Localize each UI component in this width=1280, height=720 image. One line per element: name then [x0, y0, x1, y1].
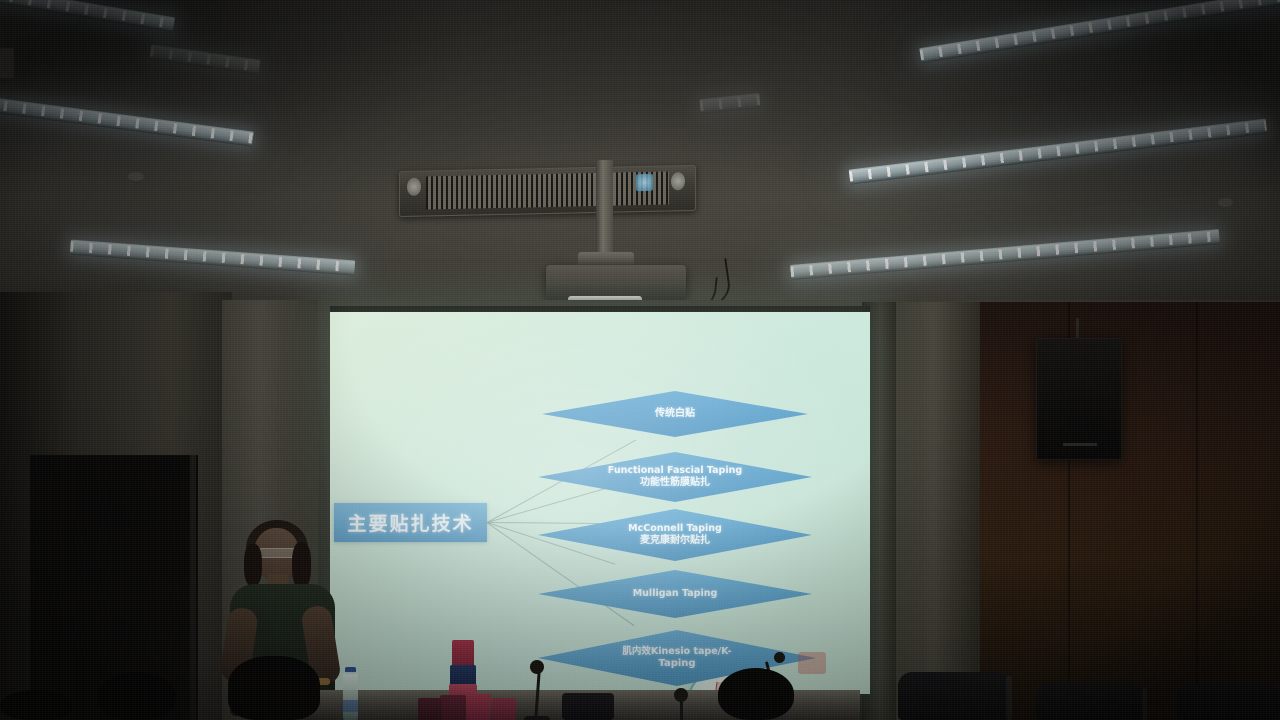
node-mulligan-taping[interactable]: Mulligan Taping — [538, 570, 812, 618]
door-jamb — [190, 455, 196, 720]
audience-member — [228, 656, 320, 720]
root-node-label: 主要贴扎技术 — [347, 509, 473, 536]
root-node-main-taping-techniques[interactable]: 主要贴扎技术 — [334, 503, 487, 542]
tape-roll — [492, 698, 516, 720]
tape-roll — [452, 640, 474, 668]
node-label: McConnell Taping 麦克康耐尔贴扎 — [622, 524, 728, 546]
node-traditional-white-tape[interactable]: 传统白贴 — [542, 391, 808, 437]
projection-screen: 主要贴扎技术 传统白贴 Functional Fascial Taping 功能… — [330, 312, 870, 694]
node-label: 传统白贴 — [649, 408, 701, 419]
audience-member — [0, 690, 72, 720]
auditorium-seat[interactable] — [898, 672, 1010, 720]
audience-member — [718, 668, 794, 720]
tape-roll — [466, 694, 491, 720]
node-label: Functional Fascial Taping 功能性筋膜贴扎 — [602, 466, 748, 488]
connector-line — [487, 486, 612, 523]
audience-member — [98, 672, 176, 720]
node-label: 肌内效Kinesio tape/K- Taping — [616, 647, 737, 669]
speaker-bracket — [1076, 318, 1079, 340]
wall-pillar-right — [896, 302, 980, 720]
connector-line — [487, 522, 599, 524]
tape-roll — [440, 695, 466, 720]
tape-roll — [418, 698, 442, 720]
projector-mount-pole — [596, 160, 613, 260]
node-label: Mulligan Taping — [627, 589, 724, 600]
wood-wall-panel — [980, 302, 1280, 720]
screen-corner-mark — [798, 652, 826, 674]
auditorium-seat[interactable] — [1036, 682, 1144, 720]
water-bottle — [343, 672, 358, 720]
lecture-hall-scene: 主要贴扎技术 传统白贴 Functional Fascial Taping 功能… — [0, 0, 1280, 720]
wall-sensor — [0, 48, 14, 78]
glasses-icon — [258, 548, 296, 558]
smoke-detector-icon — [1218, 198, 1233, 207]
smoke-detector-icon — [128, 172, 144, 181]
wall-speaker — [1036, 338, 1122, 460]
auditorium-seat[interactable] — [1176, 684, 1280, 720]
air-conditioning-vent — [399, 165, 696, 217]
camera-device — [562, 693, 614, 720]
